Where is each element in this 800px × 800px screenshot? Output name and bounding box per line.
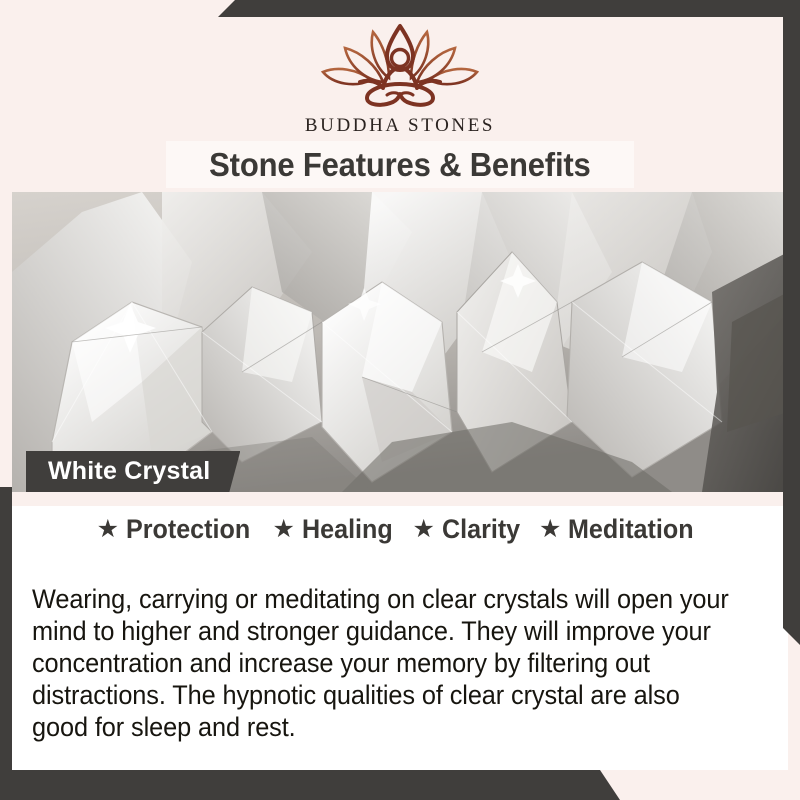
stone-description: Wearing, carrying or meditating on clear…: [32, 583, 739, 743]
benefit-item-healing: ★ Healing: [273, 514, 400, 545]
benefit-item-meditation: ★ Meditation: [539, 514, 703, 545]
benefit-label: Meditation: [568, 514, 694, 545]
frame-right-accent: [783, 0, 800, 645]
benefits-list: ★ Protection ★ Healing ★ Clarity ★ Medit…: [12, 514, 788, 545]
frame-bottom-accent: [0, 770, 800, 800]
benefit-item-clarity: ★ Clarity: [413, 514, 526, 545]
content-panel: ★ Protection ★ Healing ★ Clarity ★ Medit…: [12, 492, 788, 770]
benefit-label: Clarity: [442, 514, 520, 545]
brand-logo: BUDDHA STONES: [0, 22, 800, 137]
brand-name: BUDDHA STONES: [0, 115, 800, 137]
stone-name-banner: White Crystal: [26, 451, 240, 492]
frame-left-accent: [0, 487, 12, 800]
benefit-item-protection: ★ Protection: [97, 514, 260, 545]
star-icon: ★: [413, 517, 435, 542]
page-title: Stone Features & Benefits: [209, 146, 590, 184]
star-icon: ★: [539, 517, 561, 542]
stone-info-card: BUDDHA STONES Stone Features & Benefits: [0, 0, 800, 800]
lotus-meditation-figure-icon: [0, 22, 800, 113]
star-icon: ★: [97, 517, 119, 542]
benefit-label: Protection: [126, 514, 250, 545]
star-icon: ★: [273, 517, 295, 542]
stone-name: White Crystal: [48, 457, 210, 486]
page-title-band: Stone Features & Benefits: [166, 141, 634, 188]
white-crystal-cluster-photo: [12, 192, 788, 492]
benefit-label: Healing: [302, 514, 393, 545]
content-top-strip: [12, 492, 788, 506]
